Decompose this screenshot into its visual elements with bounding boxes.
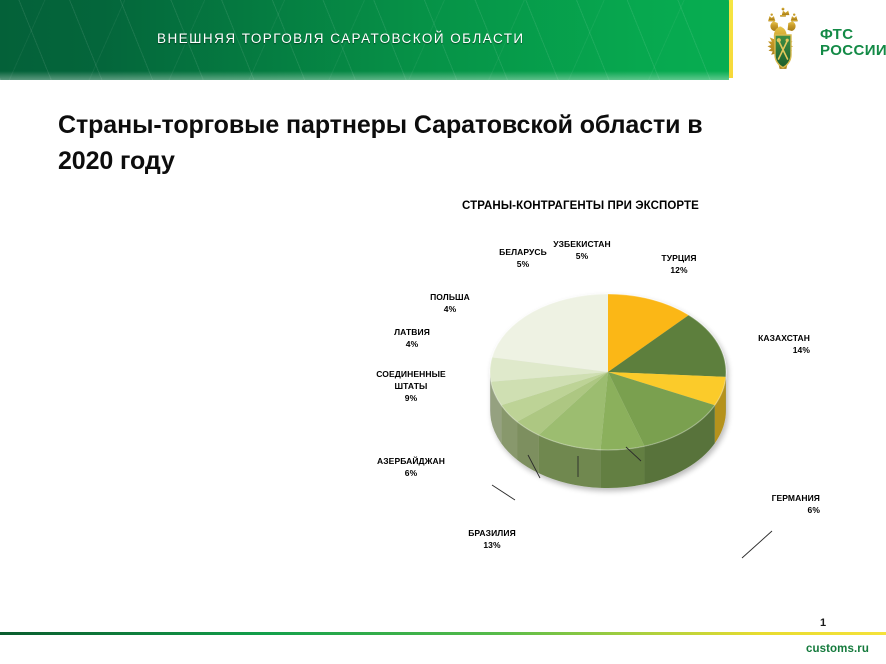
fts-logo-line1: ФТС	[820, 27, 886, 43]
pie-label-kazakhstan: КАЗАХСТАН 14%	[700, 332, 810, 356]
pie-label-poland-pct: 4%	[412, 303, 488, 315]
page-number: 1	[820, 617, 826, 629]
pie-label-latvia: ЛАТВИЯ 4%	[374, 326, 450, 350]
pie-label-germany: ГЕРМАНИЯ 6%	[710, 492, 820, 516]
pie-label-poland-name: ПОЛЬША	[430, 292, 470, 302]
header-accent-stripe	[729, 0, 733, 78]
pie-label-usa-name-line1: СОЕДИНЕННЫЕ	[376, 369, 446, 379]
pie-label-uzbekistan: УЗБЕКИСТАН 5%	[536, 238, 628, 262]
pie-label-azerbaijan-pct: 6%	[356, 467, 466, 479]
pie-chart: ТУРЦИЯ 12% КАЗАХСТАН 14% ГЕРМАНИЯ 6% БРА…	[0, 186, 886, 606]
pie-label-brazil-pct: 13%	[444, 539, 540, 551]
pie-label-brazil-name: БРАЗИЛИЯ	[468, 528, 516, 538]
pie-label-latvia-pct: 4%	[374, 338, 450, 350]
pie-label-turkey-name: ТУРЦИЯ	[661, 253, 696, 263]
pie-label-kazakhstan-pct: 14%	[700, 344, 810, 356]
pie-label-azerbaijan: АЗЕРБАЙДЖАН 6%	[356, 455, 466, 479]
pie-label-turkey-pct: 12%	[637, 264, 721, 276]
double-headed-eagle-icon	[752, 7, 814, 79]
footer-site-label: customs.ru	[806, 643, 869, 655]
pie-label-uzbekistan-name: УЗБЕКИСТАН	[553, 239, 611, 249]
page-title: Страны-торговые партнеры Саратовской обл…	[58, 108, 718, 179]
pie-label-uzbekistan-pct: 5%	[536, 250, 628, 262]
pie-label-brazil: БРАЗИЛИЯ 13%	[444, 527, 540, 551]
pie-label-latvia-name: ЛАТВИЯ	[394, 327, 430, 337]
fts-logo-text: ФТС РОССИИ	[820, 27, 886, 59]
pie-geometry	[490, 294, 726, 488]
pie-label-turkey: ТУРЦИЯ 12%	[637, 252, 721, 276]
banner-title: ВНЕШНЯЯ ТОРГОВЛЯ САРАТОВСКОЙ ОБЛАСТИ	[157, 31, 525, 46]
pie-label-poland: ПОЛЬША 4%	[412, 291, 488, 315]
fts-logo: ФТС РОССИИ	[752, 6, 884, 80]
pie-label-usa-pct: 9%	[355, 392, 467, 404]
fts-logo-line2: РОССИИ	[820, 43, 886, 59]
pie-label-germany-pct: 6%	[710, 504, 820, 516]
footer-divider	[0, 632, 886, 635]
chart-container: СТРАНЫ-КОНТРАГЕНТЫ ПРИ ЭКСПОРТЕ	[0, 186, 886, 606]
pie-label-usa: СОЕДИНЕННЫЕ ШТАТЫ 9%	[355, 368, 467, 404]
header-bottom-fade	[0, 71, 729, 80]
pie-label-kazakhstan-name: КАЗАХСТАН	[758, 333, 810, 343]
pie-label-usa-name-line2: ШТАТЫ	[355, 380, 467, 392]
pie-label-azerbaijan-name: АЗЕРБАЙДЖАН	[377, 456, 445, 466]
pie-label-germany-name: ГЕРМАНИЯ	[772, 493, 820, 503]
